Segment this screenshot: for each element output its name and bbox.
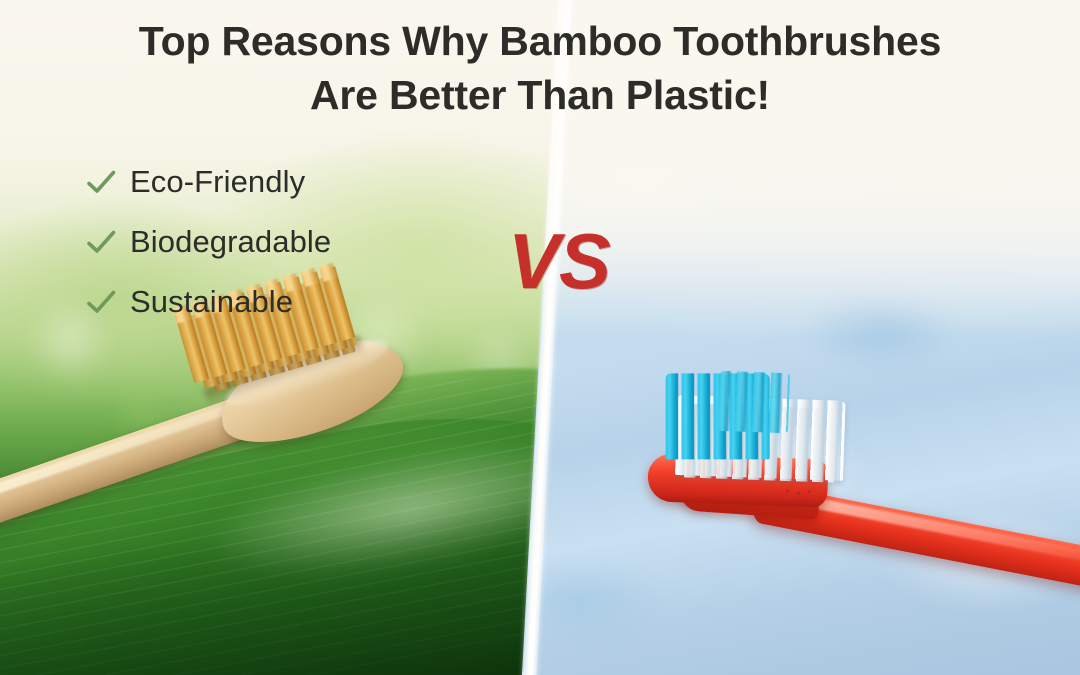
list-item: Eco-Friendly: [84, 152, 331, 212]
benefits-list: Eco-Friendly Biodegradable Sustainable: [84, 152, 331, 332]
versus-badge: VS: [508, 222, 610, 300]
check-icon: [84, 285, 118, 319]
headline-line-2: Are Better Than Plastic!: [0, 68, 1080, 122]
plastic-head-holes: [782, 486, 816, 501]
list-item: Sustainable: [84, 272, 331, 332]
check-icon: [84, 225, 118, 259]
headline-line-1: Top Reasons Why Bamboo Toothbrushes: [139, 18, 941, 64]
benefit-label: Eco-Friendly: [130, 164, 305, 200]
comparison-poster: Top Reasons Why Bamboo Toothbrushes Are …: [0, 0, 1080, 675]
page-title: Top Reasons Why Bamboo Toothbrushes Are …: [0, 14, 1080, 122]
benefit-label: Sustainable: [130, 284, 293, 320]
check-icon: [84, 165, 118, 199]
list-item: Biodegradable: [84, 212, 331, 272]
benefit-label: Biodegradable: [130, 224, 331, 260]
plastic-blue-bristles-back: [718, 371, 790, 433]
